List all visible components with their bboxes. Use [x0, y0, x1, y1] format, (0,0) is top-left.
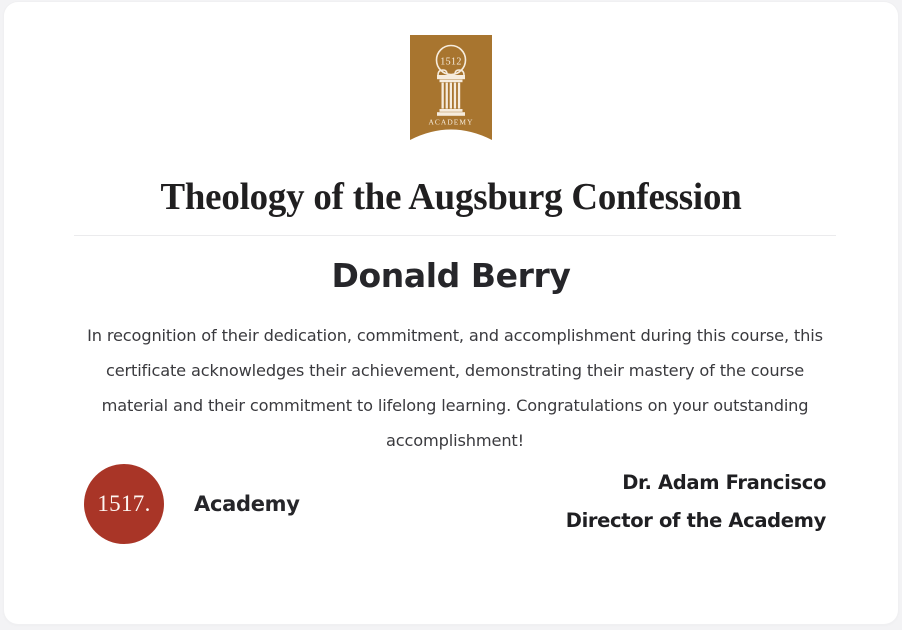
- academy-seal: 1517.: [84, 464, 164, 544]
- signatory-name: Dr. Adam Francisco: [566, 464, 826, 502]
- organization-name: Academy: [194, 492, 300, 516]
- seal-group: 1517. Academy: [84, 464, 300, 544]
- seal-year-label: 1517.: [97, 492, 150, 515]
- certificate-card: 1512 ACADEMY Theology of the Augsburg Co…: [4, 2, 898, 624]
- logo-wordmark-text: ACADEMY: [428, 118, 473, 127]
- logo-year-text: 1512: [440, 57, 462, 68]
- certificate-footer: 1517. Academy Dr. Adam Francisco Directo…: [74, 464, 828, 554]
- recipient-name: Donald Berry: [4, 252, 898, 300]
- certificate-title: Theology of the Augsburg Confession: [17, 174, 884, 220]
- title-divider: [74, 235, 836, 236]
- signatory-role: Director of the Academy: [566, 502, 826, 540]
- academy-column-banner-logo: 1512 ACADEMY: [410, 35, 492, 140]
- signature-block: Dr. Adam Francisco Director of the Acade…: [566, 464, 826, 540]
- logo-container: 1512 ACADEMY: [4, 35, 898, 140]
- certificate-body-text: In recognition of their dedication, comm…: [72, 318, 838, 458]
